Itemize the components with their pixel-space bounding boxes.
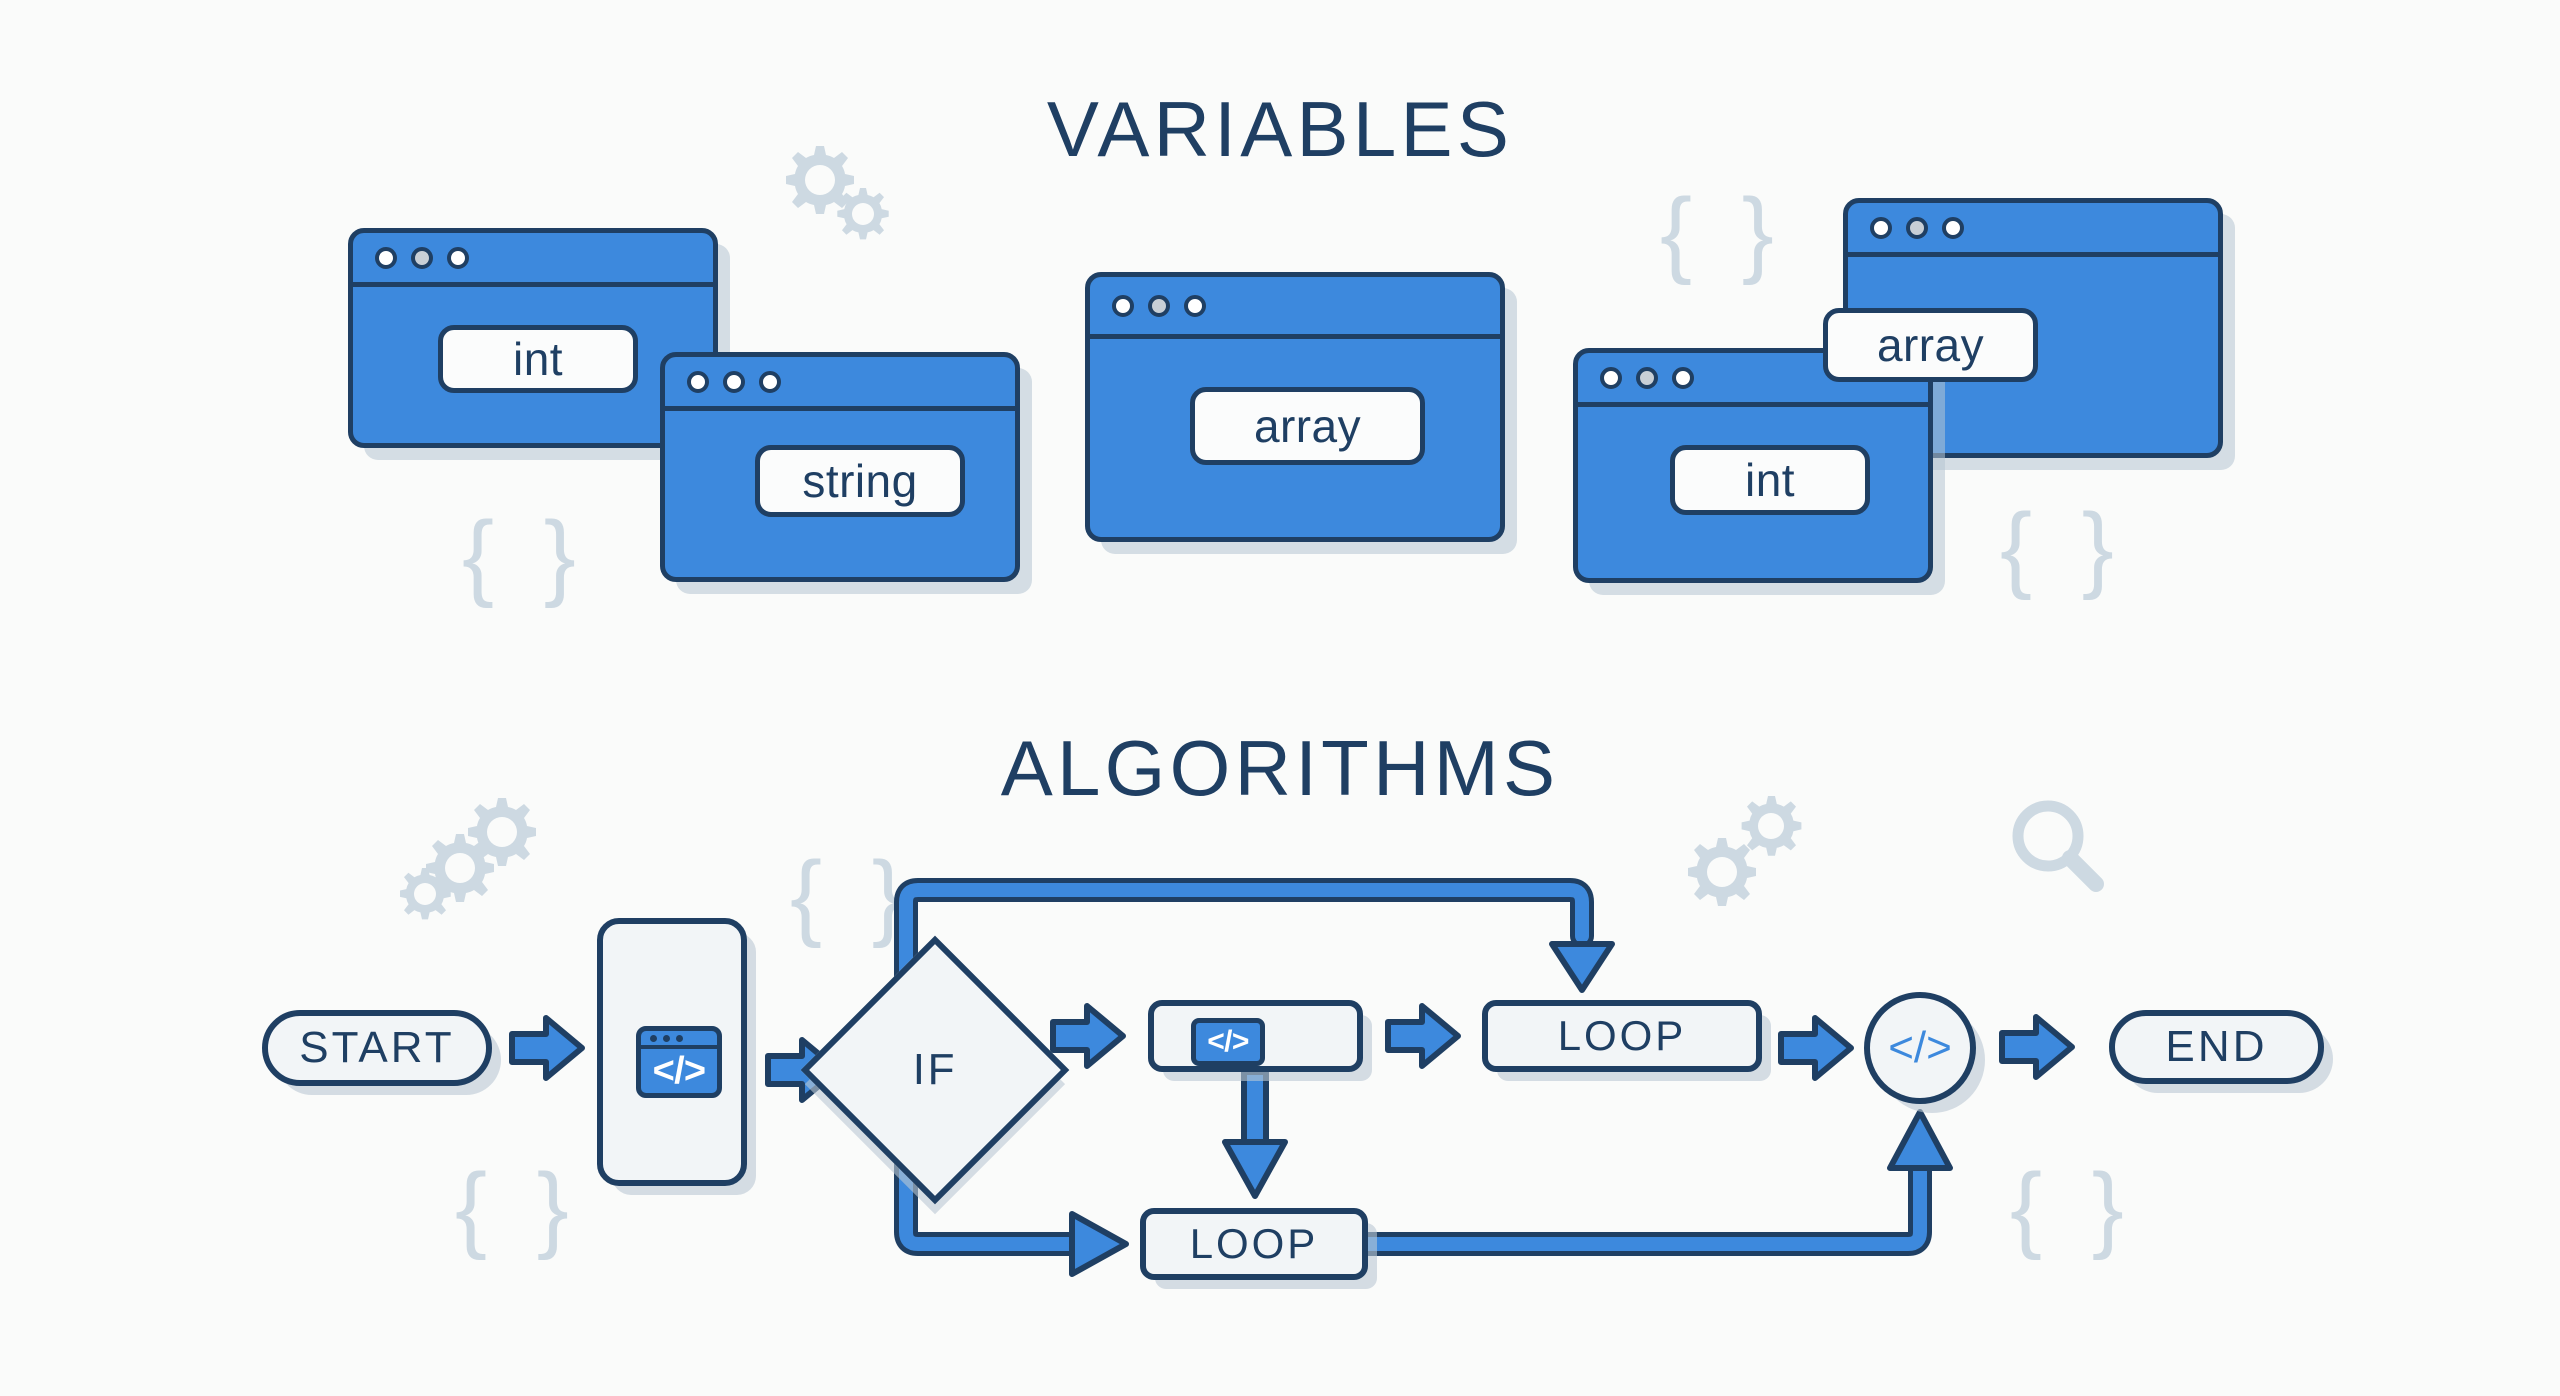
flow-node-label: START	[299, 1023, 455, 1073]
edge-circle-to-end	[2002, 1017, 2072, 1077]
code-window-icon: </>	[636, 1026, 722, 1098]
algorithms-section-title: ALGORITHMS	[0, 723, 2560, 814]
flow-node-if[interactable]: IF	[840, 975, 1030, 1165]
code-window-title-bar	[641, 1031, 717, 1049]
edge-loop2-return-to-circle	[1368, 1112, 1950, 1244]
window-title-bar	[353, 233, 713, 287]
window-dot	[375, 247, 397, 269]
edge-loop1-to-circle	[1781, 1018, 1851, 1078]
window-title-bar	[1090, 277, 1500, 339]
edge-code2-down-to-loop2	[1225, 1072, 1285, 1196]
brace-mid: { }	[1660, 185, 1785, 281]
brace-right: { }	[2000, 500, 2125, 596]
window-dot	[759, 371, 781, 393]
brace-left: { }	[790, 848, 915, 944]
variable-type-label: string	[755, 445, 965, 517]
variable-type-label: array	[1190, 387, 1425, 465]
flow-node-label: LOOP	[1190, 1220, 1318, 1268]
gears-icon	[400, 790, 560, 930]
window-dot	[1870, 217, 1892, 239]
variables-section-title: VARIABLES	[0, 84, 2560, 175]
gears-icon	[768, 128, 898, 248]
variable-type-label: int	[438, 325, 638, 393]
flow-node-end[interactable]: END	[2109, 1010, 2324, 1084]
window-title-bar	[1848, 203, 2218, 257]
window-dot	[411, 247, 433, 269]
variable-window-array-center[interactable]: array	[1085, 272, 1505, 542]
variable-type-label: int	[1670, 445, 1870, 515]
flow-node-loop-top[interactable]: LOOP	[1482, 1000, 1762, 1072]
window-dot	[723, 371, 745, 393]
window-dot	[447, 247, 469, 269]
gears-icon	[1680, 790, 1820, 920]
variable-type-label: array	[1823, 308, 2038, 382]
flow-node-loop-bottom[interactable]: LOOP	[1140, 1208, 1368, 1280]
window-dot	[687, 371, 709, 393]
flow-node-label: END	[2165, 1022, 2267, 1072]
code-slash-glyph: </>	[1196, 1023, 1260, 1061]
illustration-canvas: VARIABLES { } { } { } int	[0, 0, 2560, 1396]
flow-node-start[interactable]: START	[262, 1010, 492, 1086]
window-dot	[1906, 217, 1928, 239]
flow-node-label: IF	[840, 975, 1030, 1165]
flow-node-code-panel[interactable]: </>	[597, 918, 747, 1186]
brace-lower: { }	[455, 1160, 580, 1256]
flow-node-code-circle[interactable]: </>	[1864, 992, 1976, 1104]
code-badge-icon: </>	[1191, 1018, 1265, 1066]
brace-left: { }	[462, 508, 587, 604]
code-slash-glyph: </>	[641, 1049, 717, 1093]
flow-node-code-block[interactable]: </>	[1148, 1000, 1363, 1072]
window-dot	[1636, 367, 1658, 389]
window-dot	[1600, 367, 1622, 389]
variable-window-string[interactable]: string	[660, 352, 1020, 582]
edge-start-to-code1	[512, 1018, 582, 1078]
window-dot	[1672, 367, 1694, 389]
search-icon	[2000, 790, 2120, 910]
variable-window-int-right[interactable]: int	[1573, 348, 1933, 583]
edge-if-to-code2	[1053, 1006, 1123, 1066]
code-window-dot	[663, 1035, 670, 1042]
brace-right: { }	[2010, 1160, 2135, 1256]
window-dot	[1942, 217, 1964, 239]
code-slash-glyph: </>	[1870, 998, 1970, 1098]
window-dot	[1148, 295, 1170, 317]
code-window-dot	[676, 1035, 683, 1042]
window-title-bar	[665, 357, 1015, 411]
code-window-dot	[650, 1035, 657, 1042]
flow-node-label: LOOP	[1558, 1012, 1686, 1060]
window-dot	[1112, 295, 1134, 317]
edge-code2-to-loop1	[1388, 1006, 1458, 1066]
window-dot	[1184, 295, 1206, 317]
